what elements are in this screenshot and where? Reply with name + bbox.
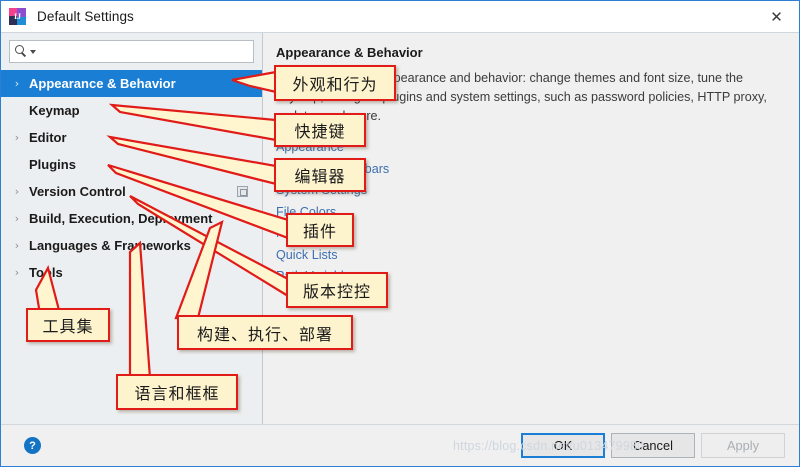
sidebar-item-languages-frameworks[interactable]: ›Languages & Frameworks bbox=[1, 232, 262, 259]
settings-sidebar: ›Appearance & BehaviorKeymap›EditorPlugi… bbox=[1, 33, 263, 424]
page-link[interactable]: Notifications bbox=[276, 223, 345, 245]
dialog-body: ›Appearance & BehaviorKeymap›EditorPlugi… bbox=[1, 32, 799, 424]
cancel-button[interactable]: Cancel bbox=[611, 433, 695, 458]
page-link[interactable]: File Colors bbox=[276, 202, 336, 224]
chevron-right-icon[interactable]: › bbox=[9, 239, 25, 252]
sidebar-item-label: Languages & Frameworks bbox=[29, 238, 191, 253]
page-description: Configure the IDE appearance and behavio… bbox=[276, 69, 785, 126]
intellij-idea-icon: IJ bbox=[9, 8, 26, 25]
window-title: Default Settings bbox=[37, 9, 134, 24]
sidebar-item-label: Plugins bbox=[29, 157, 76, 172]
sidebar-item-version-control[interactable]: ›Version Control bbox=[1, 178, 262, 205]
search-icon bbox=[15, 45, 28, 58]
sidebar-item-editor[interactable]: ›Editor bbox=[1, 124, 262, 151]
search-field-wrapper bbox=[1, 33, 262, 69]
help-icon[interactable]: ? bbox=[24, 437, 41, 454]
chevron-right-icon[interactable]: › bbox=[9, 266, 25, 279]
page-link[interactable]: Menus and Toolbars bbox=[276, 159, 389, 181]
sidebar-item-label: Keymap bbox=[29, 103, 80, 118]
sidebar-item-tools[interactable]: ›Tools bbox=[1, 259, 262, 286]
search-input[interactable] bbox=[36, 41, 253, 62]
settings-tree: ›Appearance & BehaviorKeymap›EditorPlugi… bbox=[1, 69, 262, 424]
apply-button: Apply bbox=[701, 433, 785, 458]
chevron-right-icon[interactable]: › bbox=[9, 212, 25, 225]
page-link[interactable]: Quick Lists bbox=[276, 245, 338, 267]
title-bar: IJ Default Settings ✕ bbox=[1, 1, 799, 32]
close-icon[interactable]: ✕ bbox=[754, 1, 799, 32]
sidebar-item-label: Build, Execution, Deployment bbox=[29, 211, 212, 226]
sidebar-item-keymap[interactable]: Keymap bbox=[1, 97, 262, 124]
sidebar-item-plugins[interactable]: Plugins bbox=[1, 151, 262, 178]
sidebar-item-label: Version Control bbox=[29, 184, 126, 199]
page-link[interactable]: System Settings bbox=[276, 180, 367, 202]
chevron-right-icon[interactable]: › bbox=[9, 185, 25, 198]
sidebar-item-label: Tools bbox=[29, 265, 63, 280]
copy-icon[interactable] bbox=[237, 186, 248, 197]
search-box[interactable] bbox=[9, 40, 254, 63]
ok-button[interactable]: OK bbox=[521, 433, 605, 458]
dialog-footer: ? OKCancelApply bbox=[1, 424, 799, 466]
page-link[interactable]: Appearance bbox=[276, 137, 344, 159]
sidebar-item-build-execution-deployment[interactable]: ›Build, Execution, Deployment bbox=[1, 205, 262, 232]
chevron-right-icon[interactable]: › bbox=[9, 131, 25, 144]
dialog-button-row: OKCancelApply bbox=[521, 433, 785, 458]
sidebar-item-appearance-behavior[interactable]: ›Appearance & Behavior bbox=[1, 70, 262, 97]
sidebar-item-label: Appearance & Behavior bbox=[29, 76, 176, 91]
page-title: Appearance & Behavior bbox=[276, 45, 785, 60]
page-link[interactable]: Path Variables bbox=[276, 266, 357, 288]
settings-detail-pane: Appearance & Behavior Configure the IDE … bbox=[263, 33, 799, 424]
settings-dialog: IJ Default Settings ✕ ›Appearance & Beha… bbox=[0, 0, 800, 467]
chevron-right-icon[interactable]: › bbox=[9, 77, 25, 90]
page-link-list: AppearanceMenus and ToolbarsSystem Setti… bbox=[276, 137, 785, 288]
sidebar-item-label: Editor bbox=[29, 130, 67, 145]
